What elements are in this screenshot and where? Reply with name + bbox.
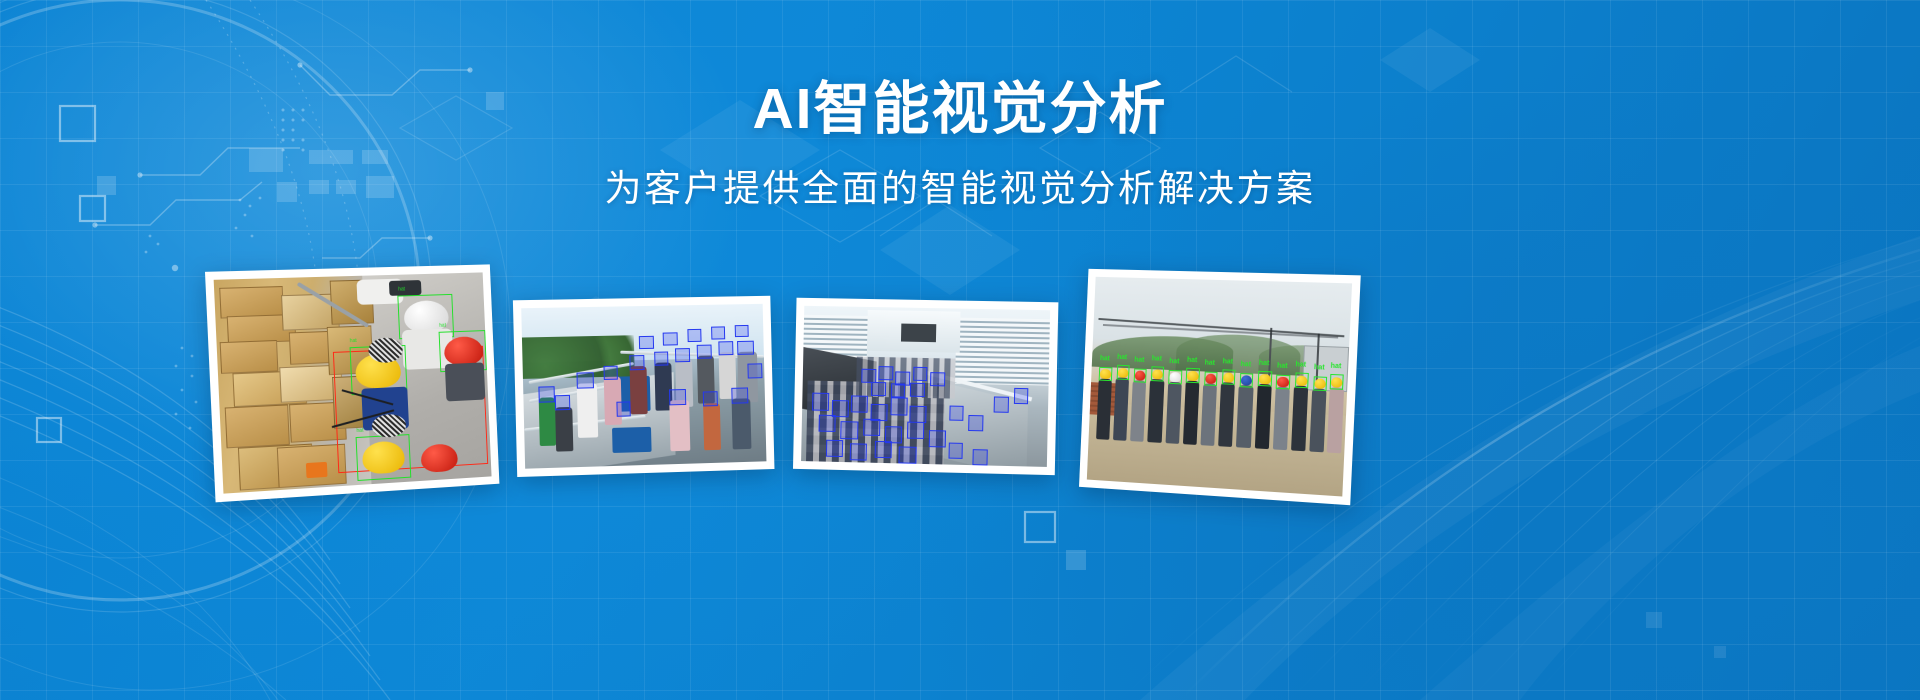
detection-box-head [910,383,925,397]
person-body [445,362,485,401]
warehouse-overhead-scene: hat hat hat hat [214,272,492,493]
gallery-photo-4[interactable]: hat hat hat hat hat hat hat hat [1079,269,1361,505]
detection-box-head [819,415,836,432]
hat-label: hat [1117,354,1127,361]
detection-box-face [697,344,712,359]
detection-box-head [841,422,858,439]
detection-box-face [663,332,678,345]
person [577,383,598,438]
display-screen [901,323,936,342]
carton [225,405,290,449]
detection-box-face [603,365,618,380]
detection-box-head [973,450,988,466]
detection-box-face [639,336,654,349]
detection-box-hat [1099,366,1112,381]
person [1148,379,1165,443]
person [1165,382,1182,445]
hat-label: hat [1100,355,1110,362]
footbridge-crowd-scene [521,304,766,469]
person [630,366,648,414]
person [538,397,556,445]
detection-box-hat [1258,371,1272,386]
detection-box-helmet: hat [356,434,411,481]
detection-box-face [616,402,631,417]
orange-tool [305,462,327,478]
carton [219,340,278,374]
detection-box-hat [1294,373,1308,388]
detection-box-face [577,372,594,388]
detection-box-face [669,389,686,405]
detection-box-hat [1329,374,1344,389]
detection-box-head [968,415,983,431]
ai-vision-banner: AI智能视觉分析 为客户提供全面的智能视觉分析解决方案 [0,0,1920,700]
hat-label: hat [1134,357,1144,364]
detection-box-head [812,393,829,410]
person [669,400,689,451]
detection-box-face [555,395,570,410]
gallery-photo-2[interactable] [513,296,775,477]
detection-box-hat [1168,369,1182,384]
outdoor-worker-group-scene: hat hat hat hat hat hat hat hat [1087,277,1352,497]
helmet-red [420,444,458,473]
hat-label: hat [1277,363,1288,371]
station-escalator-scene [801,306,1050,467]
detection-box-head [871,382,886,396]
detection-box-head [874,441,892,459]
detection-box-face [731,388,748,404]
page-subtitle: 为客户提供全面的智能视觉分析解决方案 [0,167,1920,211]
hat-label: hat [1240,361,1251,368]
hat-label: hat [1295,361,1306,369]
detection-box-face [538,386,556,402]
detection-box-head [993,397,1008,413]
person [1273,387,1290,451]
gallery-photo-3[interactable] [793,298,1058,475]
gallery-photo-1[interactable]: hat hat hat hat [205,264,499,502]
detection-box-face [718,341,733,356]
detection-box-head [851,395,868,412]
hat-label: hat [1169,358,1179,365]
blue-signboard [612,427,651,454]
detection-box-face [687,329,702,342]
demo-photo-strip: hat hat hat hat [0,250,1920,520]
detection-box-head [899,446,917,464]
hat-label: hat [1204,360,1215,367]
detection-box-hat [1133,368,1147,383]
detection-box-head [1013,388,1028,404]
detection-box-head [890,384,905,398]
detection-box-face [630,355,645,370]
detection-box-face [735,325,750,338]
detection-box-head [913,367,928,381]
hat-label: hat [1187,357,1198,364]
detection-box-hat [1276,374,1290,389]
person [556,406,574,451]
person [1254,384,1271,450]
detection-box-head [863,419,880,437]
hat-label: hat [1259,360,1270,367]
detection-box-head [930,372,945,386]
person [1096,379,1112,441]
detection-box-hat [1151,367,1165,382]
detection-box-face [675,348,690,363]
detection-box-hat [1222,370,1236,385]
detection-box-head [948,443,963,459]
person [1183,381,1200,446]
person [732,399,752,450]
detection-box-head [907,421,925,439]
detection-box-head [890,398,908,416]
hat-label: hat [1152,355,1162,362]
detection-box-face [703,392,718,407]
detection-box-face [747,364,762,379]
detection-box-face [711,327,726,340]
detection-box-hat [1240,373,1254,388]
detection-box-head [878,366,893,380]
detection-box-hat [1116,365,1129,380]
hat-label: hat [1330,363,1341,371]
headline-block: AI智能视觉分析 为客户提供全面的智能视觉分析解决方案 [0,78,1920,211]
page-title: AI智能视觉分析 [0,78,1920,141]
detection-box-head [949,405,964,421]
person [1236,385,1253,448]
detection-box-head [850,444,867,462]
person [604,377,622,425]
detection-box-face [654,352,669,367]
louvre-facade [955,318,1050,386]
detection-box-head [826,440,843,457]
detection-box-hat [1313,376,1328,391]
dark-equipment [389,280,421,295]
detection-box-face [737,340,754,355]
person [703,403,721,451]
detection-box-hat [1204,371,1218,386]
detection-box-head [929,430,947,448]
hat-label: hat [1314,364,1325,372]
hat-label: hat [1222,358,1233,365]
detection-box-hat [1186,368,1200,383]
